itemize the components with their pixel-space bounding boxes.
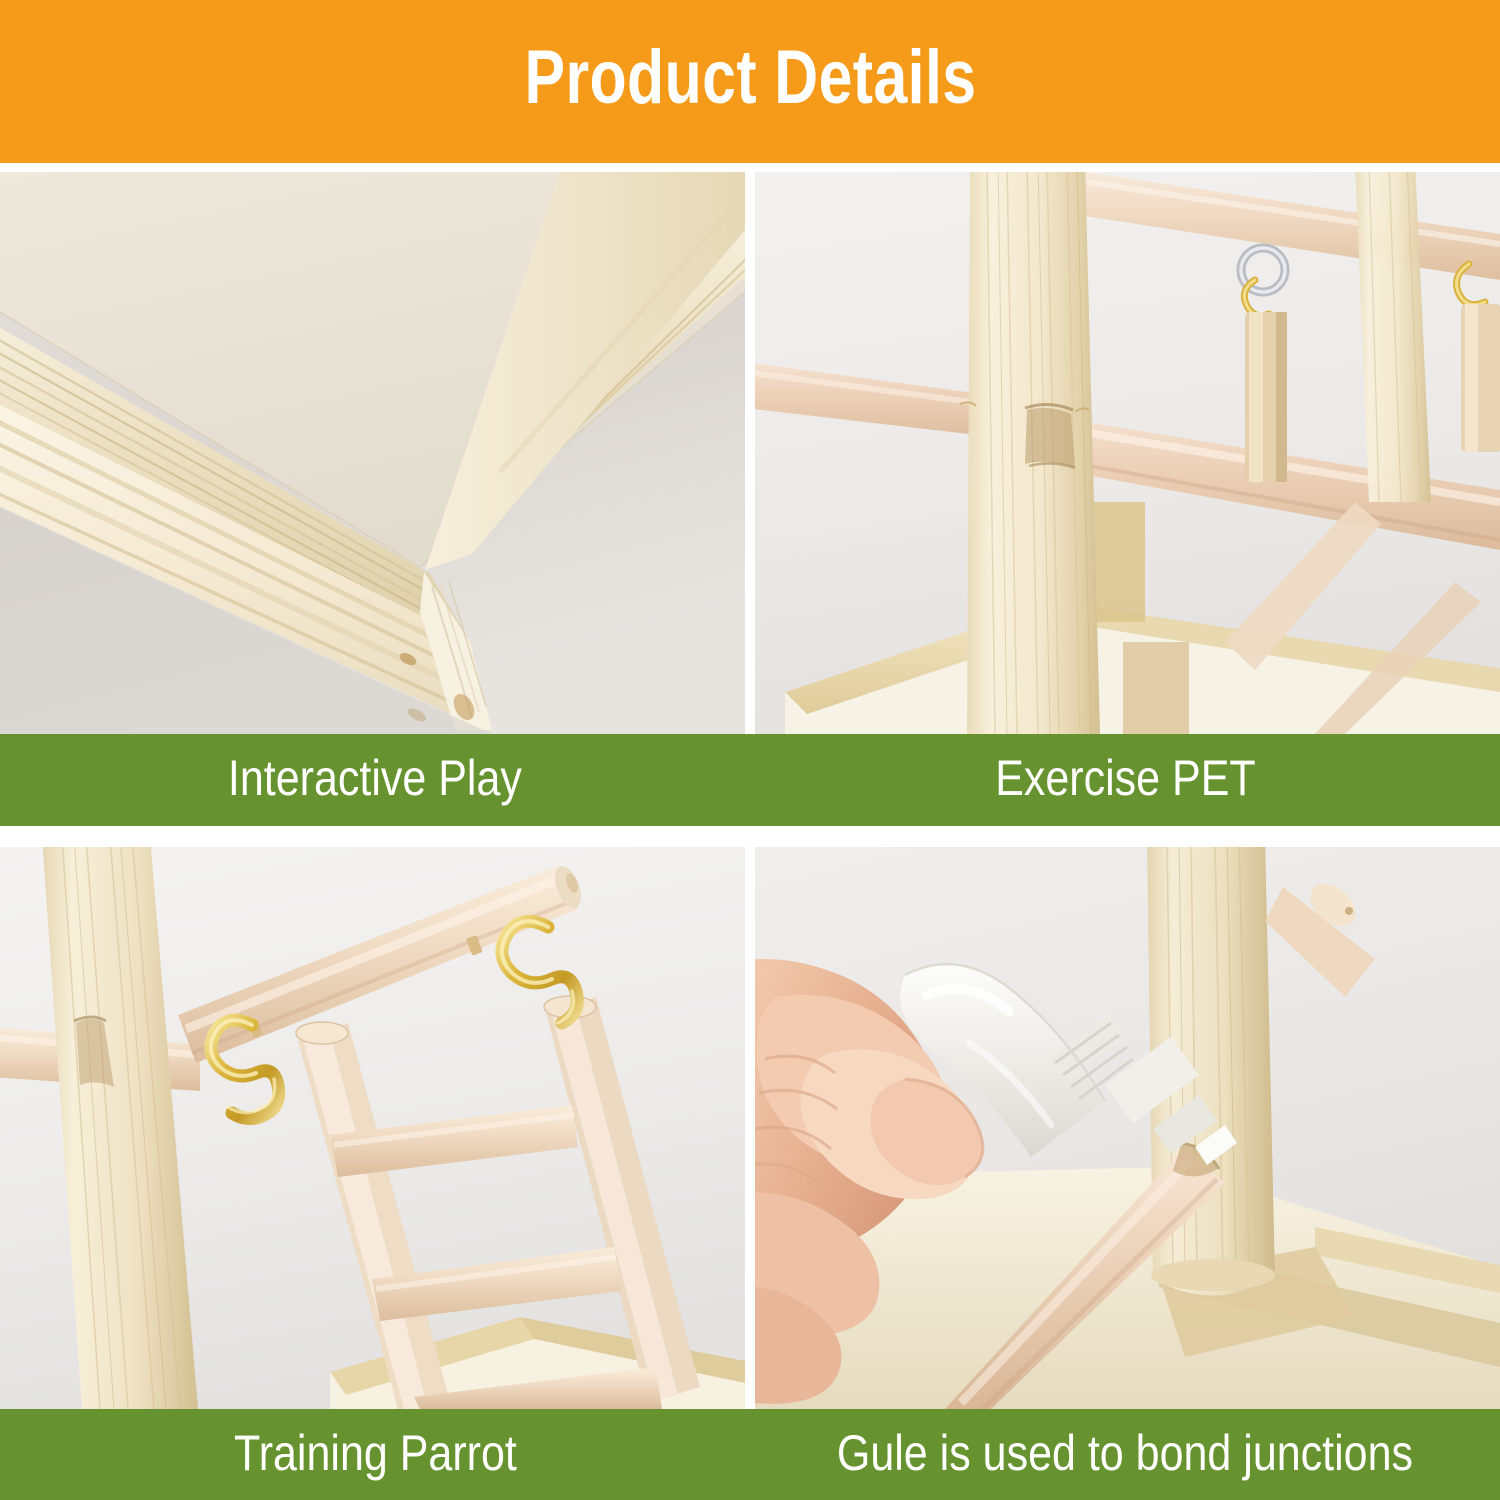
- photo-post-perch-joint: [755, 172, 1500, 734]
- photo-hanging-ladder: [0, 847, 745, 1409]
- photo-caption-grid: Interactive Play Exercise PET: [0, 163, 1500, 1500]
- caption-glue-bond: Gule is used to bond junctions: [837, 1428, 1413, 1482]
- caption-cell-exercise-pet: Exercise PET: [750, 734, 1500, 826]
- product-details-page: Product Details: [0, 0, 1500, 1500]
- caption-cell-training-parrot: Training Parrot: [0, 1409, 750, 1500]
- row-spacer: [0, 826, 1500, 838]
- photo-glue-application: [755, 847, 1500, 1409]
- caption-bar-bottom: Training Parrot Gule is used to bond jun…: [0, 1409, 1500, 1500]
- caption-training-parrot: Training Parrot: [234, 1428, 517, 1482]
- page-title: Product Details: [524, 40, 976, 124]
- caption-interactive-play: Interactive Play: [228, 753, 522, 807]
- caption-bar-top: Interactive Play Exercise PET: [0, 734, 1500, 826]
- caption-cell-glue-bond: Gule is used to bond junctions: [750, 1409, 1500, 1500]
- caption-exercise-pet: Exercise PET: [995, 753, 1255, 807]
- caption-cell-interactive-play: Interactive Play: [0, 734, 750, 826]
- photo-wood-frame-corner: [0, 172, 745, 734]
- photo-row-bottom: [0, 838, 1500, 1409]
- photo-row-top: [0, 163, 1500, 734]
- header-banner: Product Details: [0, 0, 1500, 163]
